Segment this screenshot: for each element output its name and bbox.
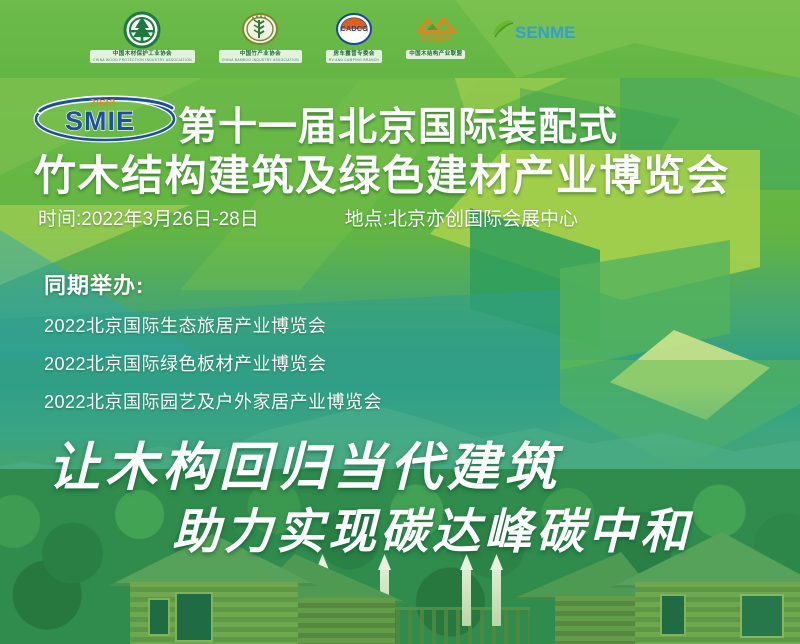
concurrent-event-item: 2022北京国际园艺及户外家居产业博览会 <box>44 388 382 414</box>
house-roof-icon: CWSA <box>415 10 457 50</box>
cabin-wall-wing <box>555 596 645 644</box>
concurrent-event-item: 2022北京国际绿色板材产业博览会 <box>44 350 382 376</box>
svg-text:CWSA: CWSA <box>420 34 451 45</box>
concurrent-events-heading: 同期举办: <box>44 268 382 300</box>
logo-china-bamboo-industry-association[interactable]: 中国竹产业协会 CHINA BAMBOO INDUSTRY ASSOCIATIO… <box>219 10 302 68</box>
cabin-window <box>660 594 686 636</box>
patio-umbrella-icon <box>462 564 471 626</box>
slogan-line-1: 让木构回归当代建筑 <box>48 425 561 500</box>
smie-abbr: SMIE <box>65 106 135 136</box>
logo-caption: 中国木材保护工业协会 CHINA WOOD PROTECTION INDUSTR… <box>90 50 195 63</box>
slogan-line-2: 助力实现碳达峰碳中和 <box>172 492 692 562</box>
tree-shield-icon <box>121 10 163 50</box>
cabin-wall-wing <box>285 598 395 644</box>
logo-cadcc-rv-camping-committee[interactable]: CADCC 房车露营专委会 RV AND CAMPING BRANCH <box>326 10 382 68</box>
exhibition-poster: 中国木材保护工业协会 CHINA WOOD PROTECTION INDUSTR… <box>0 0 800 644</box>
organizer-logo-row: 中国木材保护工业协会 CHINA WOOD PROTECTION INDUSTR… <box>0 8 800 70</box>
logo-cwsa-wood-structure-alliance[interactable]: CWSA 中国木结构产业联盟 <box>406 10 465 68</box>
logo-senmei[interactable]: SENMEI <box>489 10 575 68</box>
smie-event-logo: 2022 SMIE <box>32 92 182 144</box>
logo-caption: 中国木结构产业联盟 <box>406 50 465 59</box>
event-meta-row: 时间:2022年3月26日-28日 地点:北京亦创国际会展中心 <box>38 204 738 231</box>
bamboo-seal-icon <box>239 10 281 50</box>
svg-text:CADCC: CADCC <box>341 24 369 33</box>
concurrent-events-block: 同期举办: 2022北京国际生态旅居产业博览会 2022北京国际绿色板材产业博览… <box>44 268 382 426</box>
poster-title-line-2: 竹木结构建筑及绿色建材产业博览会 <box>34 142 730 203</box>
cabin-door <box>175 592 213 642</box>
event-venue: 地点:北京亦创国际会展中心 <box>345 204 578 231</box>
leaf-wordmark-icon: SENMEI <box>489 10 575 50</box>
cabin-window <box>148 598 170 636</box>
logo-caption: 中国竹产业协会 CHINA BAMBOO INDUSTRY ASSOCIATIO… <box>219 50 302 63</box>
logo-caption: 房车露营专委会 RV AND CAMPING BRANCH <box>326 50 382 63</box>
cadcc-badge-icon: CADCC <box>333 10 375 50</box>
event-date: 时间:2022年3月26日-28日 <box>38 204 259 231</box>
concurrent-event-item: 2022北京国际生态旅居产业博览会 <box>44 312 382 338</box>
logo-china-wood-protection-industry-association[interactable]: 中国木材保护工业协会 CHINA WOOD PROTECTION INDUSTR… <box>90 10 195 68</box>
cabin-window <box>740 594 784 638</box>
senmei-wordmark: SENMEI <box>515 23 575 42</box>
